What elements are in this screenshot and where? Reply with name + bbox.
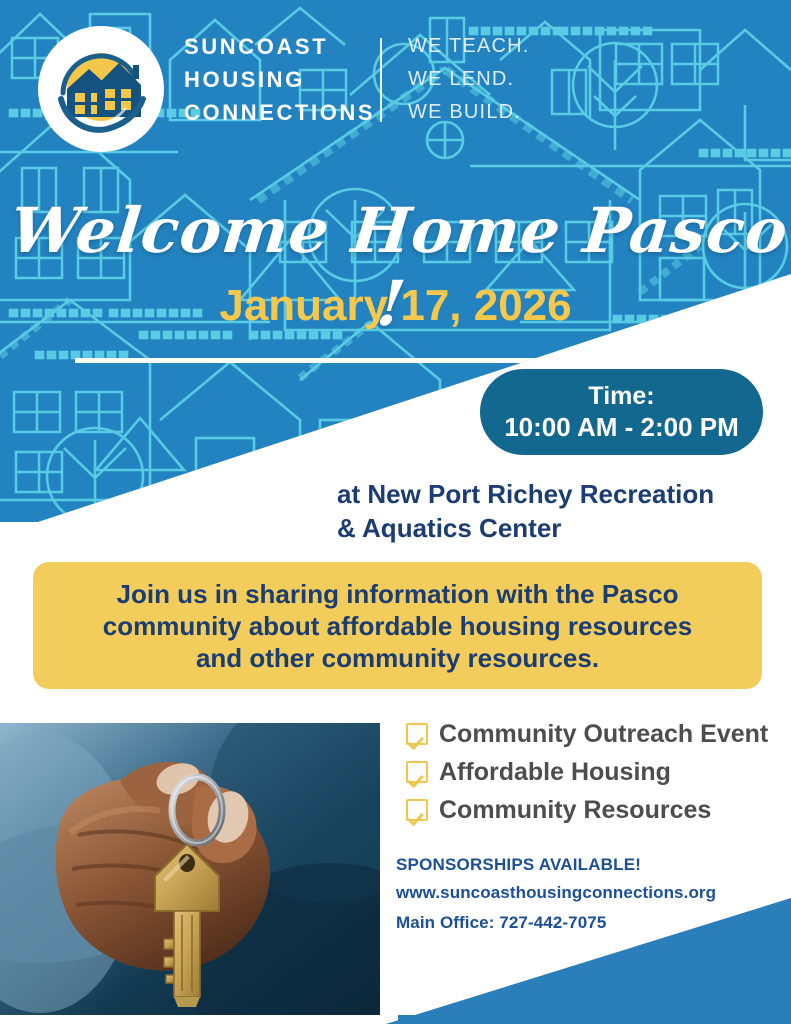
time-value: 10:00 AM - 2:00 PM <box>504 411 739 443</box>
list-item-label: Community Resources <box>439 796 711 825</box>
brand-name: SUNCOAST HOUSING CONNECTIONS <box>184 30 375 129</box>
list-item: Community Outreach Event <box>406 718 786 750</box>
brand-tagline: WE TEACH. WE LEND. WE BUILD. <box>408 30 530 129</box>
checkbox-checked-icon <box>406 723 428 745</box>
event-date: January 17, 2026 <box>0 281 791 331</box>
key-photo-illustration <box>0 723 380 1015</box>
time-label: Time: <box>588 381 654 411</box>
website-link[interactable]: www.suncoasthousingconnections.org <box>396 878 786 908</box>
event-time-badge: Time: 10:00 AM - 2:00 PM <box>480 369 763 455</box>
callout-text: Join us in sharing information with the … <box>103 578 692 674</box>
two-houses-in-hand-logo-icon <box>49 37 153 141</box>
list-item-label: Community Outreach Event <box>439 720 768 749</box>
phone-number[interactable]: Main Office: 727-442-7075 <box>396 908 786 938</box>
list-item: Community Resources <box>406 794 786 826</box>
event-venue: at New Port Richey Recreation & Aquatics… <box>337 477 769 545</box>
feature-checklist: Community Outreach Event Affordable Hous… <box>406 718 786 832</box>
list-item-label: Affordable Housing <box>439 758 671 787</box>
flyer-page: SUNCOAST HOUSING CONNECTIONS WE TEACH. W… <box>0 0 791 1024</box>
brand-divider <box>380 38 382 122</box>
checkbox-checked-icon <box>406 761 428 783</box>
divider-rule <box>75 358 621 363</box>
list-item: Affordable Housing <box>406 756 786 788</box>
sponsorships-text: SPONSORSHIPS AVAILABLE! <box>396 852 786 878</box>
callout-box: Join us in sharing information with the … <box>33 562 762 689</box>
avatar <box>38 26 164 152</box>
contact-block: SPONSORSHIPS AVAILABLE! www.suncoasthous… <box>396 852 786 938</box>
hand-holding-key-photo <box>0 723 380 1015</box>
checkbox-checked-icon <box>406 799 428 821</box>
